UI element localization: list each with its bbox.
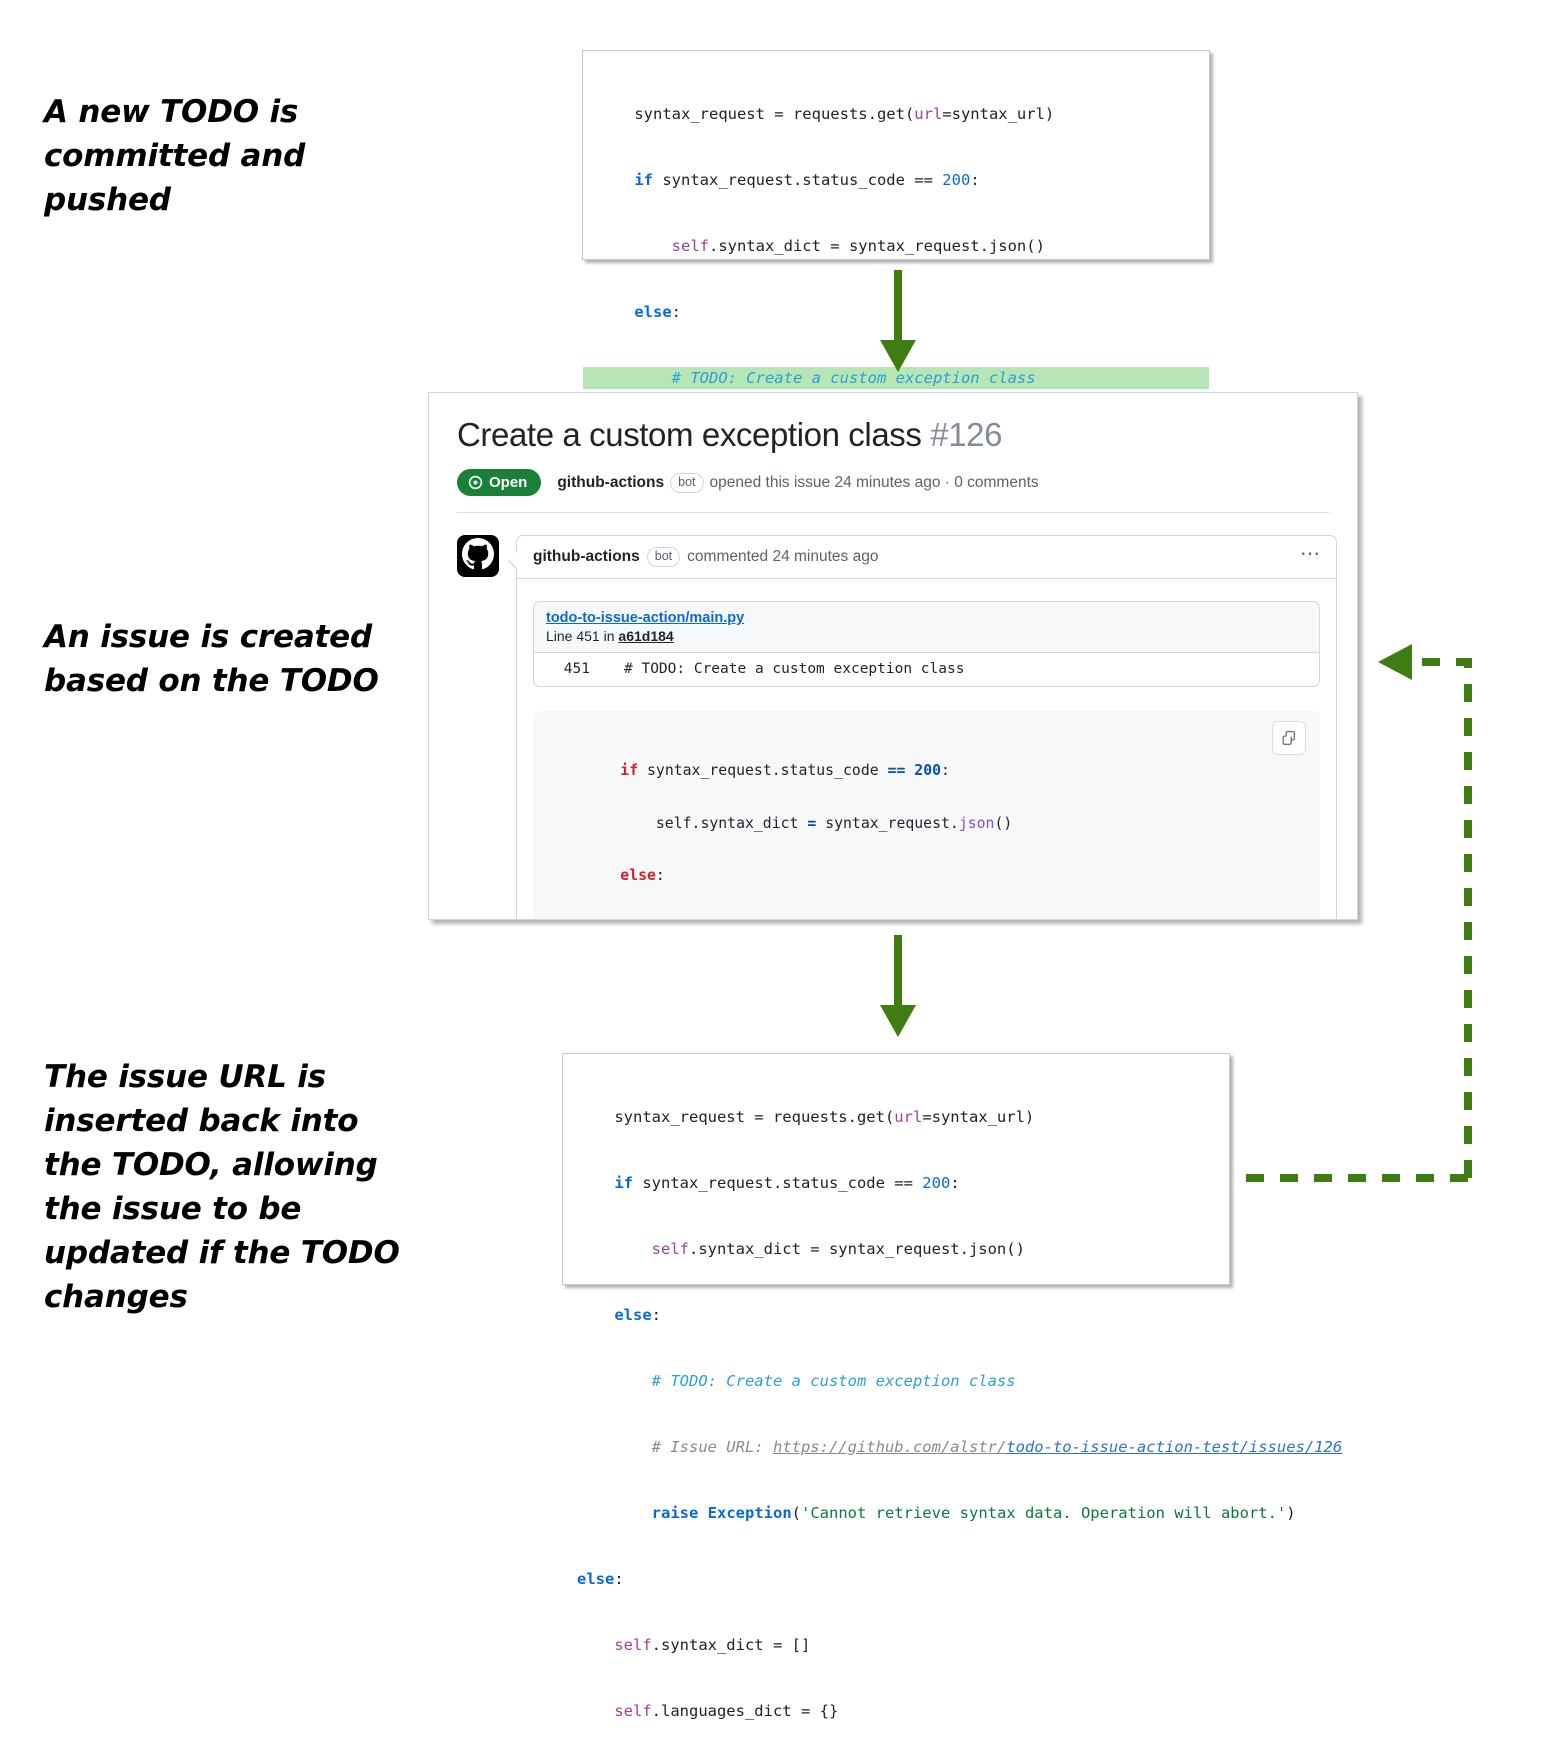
- comment-code-block: if syntax_request.status_code == 200: se…: [533, 711, 1320, 920]
- code-line: syntax_request = requests.get(url=syntax…: [583, 103, 1209, 125]
- caption-step-1: A new TODO is committed and pushed: [44, 90, 374, 222]
- comment-body: todo-to-issue-action/main.py Line 451 in…: [517, 579, 1336, 920]
- issue-title: Create a custom exception class #126: [457, 416, 1002, 453]
- code-line-todo: # TODO: Create a custom exception class: [563, 1370, 1229, 1392]
- code-line: self.syntax_dict = syntax_request.json(): [563, 1238, 1229, 1260]
- issue-author[interactable]: github-actions: [557, 474, 664, 492]
- snippet-line-number: 451: [534, 656, 590, 682]
- code-line: self.syntax_dict = syntax_request.json(): [583, 235, 1209, 257]
- avatar[interactable]: [457, 535, 499, 577]
- code-line: syntax_request = requests.get(url=syntax…: [563, 1106, 1229, 1128]
- snippet-code-row: 451 # TODO: Create a custom exception cl…: [534, 653, 1319, 686]
- comment-header: github-actions bot commented 24 minutes …: [517, 536, 1336, 579]
- issue-meta-row: Open github-actions bot opened this issu…: [429, 455, 1357, 496]
- comment-area: github-actions bot commented 24 minutes …: [457, 535, 1357, 920]
- dashed-feedback-arrow: [1230, 640, 1530, 1200]
- code-line: self.syntax_dict = []: [563, 1634, 1229, 1656]
- code-line-issue-url: # Issue URL: https://github.com/alstr/to…: [563, 1436, 1229, 1458]
- snippet-line-prefix: Line 451 in: [546, 628, 618, 644]
- caption-step-2: An issue is created based on the TODO: [44, 615, 404, 703]
- bot-badge: bot: [670, 473, 703, 493]
- code-line: self.languages_dict = {}: [563, 1700, 1229, 1722]
- code-line: raise Exception('Cannot retrieve syntax …: [563, 1502, 1229, 1524]
- caption-step-3: The issue URL is inserted back into the …: [44, 1055, 404, 1319]
- code-line: self.syntax_dict = syntax_request.json(): [533, 815, 1320, 833]
- kebab-horizontal-icon[interactable]: ⋯: [1300, 549, 1322, 565]
- snippet-file-link[interactable]: todo-to-issue-action/main.py: [546, 610, 744, 626]
- comment-box: github-actions bot commented 24 minutes …: [516, 535, 1337, 920]
- issue-title-row: Create a custom exception class #126: [429, 393, 1357, 455]
- down-arrow-icon-top: [860, 268, 940, 378]
- issue-opened-icon: [468, 475, 483, 490]
- snippet-line-info: Line 451 in a61d184: [546, 628, 1307, 644]
- down-arrow-icon-bottom: [860, 933, 940, 1043]
- issue-number: #126: [930, 416, 1002, 453]
- code-line: if syntax_request.status_code == 200:: [563, 1172, 1229, 1194]
- issue-meta-text: github-actions bot opened this issue 24 …: [557, 473, 1038, 493]
- code-permalink-snippet: todo-to-issue-action/main.py Line 451 in…: [533, 601, 1320, 687]
- status-badge-open[interactable]: Open: [457, 469, 541, 496]
- github-mark-icon: [462, 538, 494, 575]
- bot-badge: bot: [647, 547, 680, 567]
- snippet-line-text: # TODO: Create a custom exception class: [624, 656, 964, 682]
- status-badge-label: Open: [489, 475, 527, 490]
- divider: [457, 512, 1329, 513]
- code-line: else:: [563, 1304, 1229, 1326]
- snippet-header: todo-to-issue-action/main.py Line 451 in…: [534, 602, 1319, 653]
- comment-author[interactable]: github-actions: [533, 548, 640, 566]
- code-panel-after: syntax_request = requests.get(url=syntax…: [562, 1053, 1230, 1285]
- github-issue-card: Create a custom exception class #126 Ope…: [428, 392, 1358, 920]
- code-line: if syntax_request.status_code == 200:: [583, 169, 1209, 191]
- issue-title-text: Create a custom exception class: [457, 416, 922, 453]
- code-line: if syntax_request.status_code == 200:: [533, 762, 1320, 780]
- code-line: # TODO: Create a custom exception class: [533, 920, 1320, 921]
- code-line: else:: [563, 1568, 1229, 1590]
- comment-timestamp: commented 24 minutes ago: [687, 548, 878, 566]
- code-panel-before: syntax_request = requests.get(url=syntax…: [582, 50, 1210, 260]
- code-line: else:: [533, 867, 1320, 885]
- snippet-commit-sha[interactable]: a61d184: [618, 628, 673, 644]
- issue-meta-detail: opened this issue 24 minutes ago · 0 com…: [710, 474, 1039, 492]
